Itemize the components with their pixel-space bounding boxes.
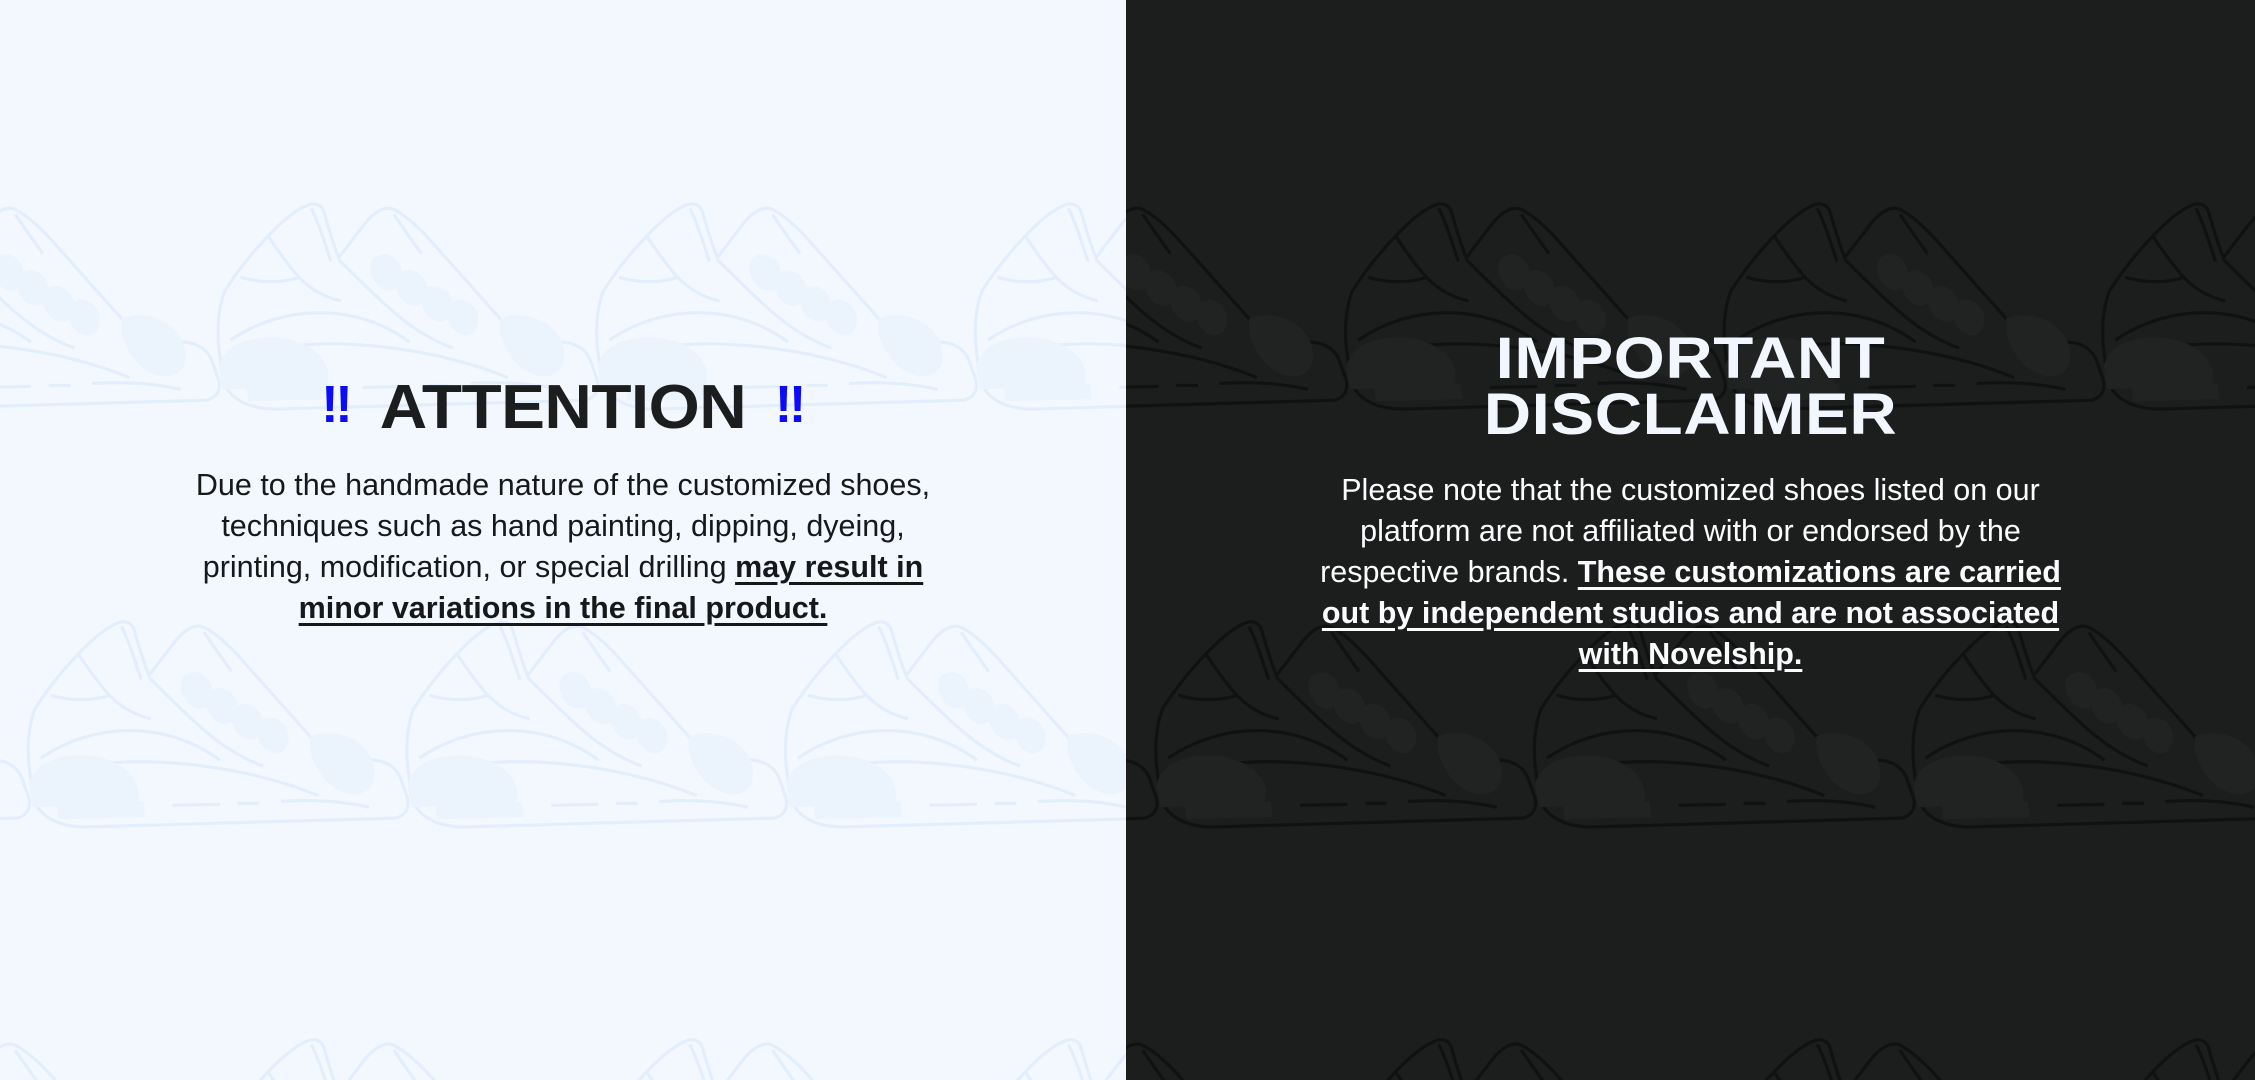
disclaimer-heading-line-1: IMPORTANT — [1126, 331, 2255, 387]
promo-banner: ‼ ATTENTION ‼ Due to the handmade nature… — [0, 0, 2255, 1080]
disclaimer-content: IMPORTANT DISCLAIMER Please note that th… — [1126, 331, 2255, 749]
attention-body: Due to the handmade nature of the custom… — [163, 465, 963, 629]
disclaimer-body: Please note that the customized shoes li… — [1296, 470, 2086, 675]
double-exclamation-icon-right: ‼ — [775, 379, 805, 431]
attention-heading-text: ATTENTION — [380, 377, 746, 438]
disclaimer-heading-line-2: DISCLAIMER — [1126, 387, 2255, 443]
disclaimer-panel: IMPORTANT DISCLAIMER Please note that th… — [1126, 0, 2255, 1080]
attention-panel: ‼ ATTENTION ‼ Due to the handmade nature… — [0, 0, 1126, 1080]
attention-content: ‼ ATTENTION ‼ Due to the handmade nature… — [0, 377, 1126, 703]
double-exclamation-icon-left: ‼ — [321, 379, 351, 431]
disclaimer-heading: IMPORTANT DISCLAIMER — [1126, 331, 2255, 444]
attention-heading: ‼ ATTENTION ‼ — [0, 377, 1126, 438]
